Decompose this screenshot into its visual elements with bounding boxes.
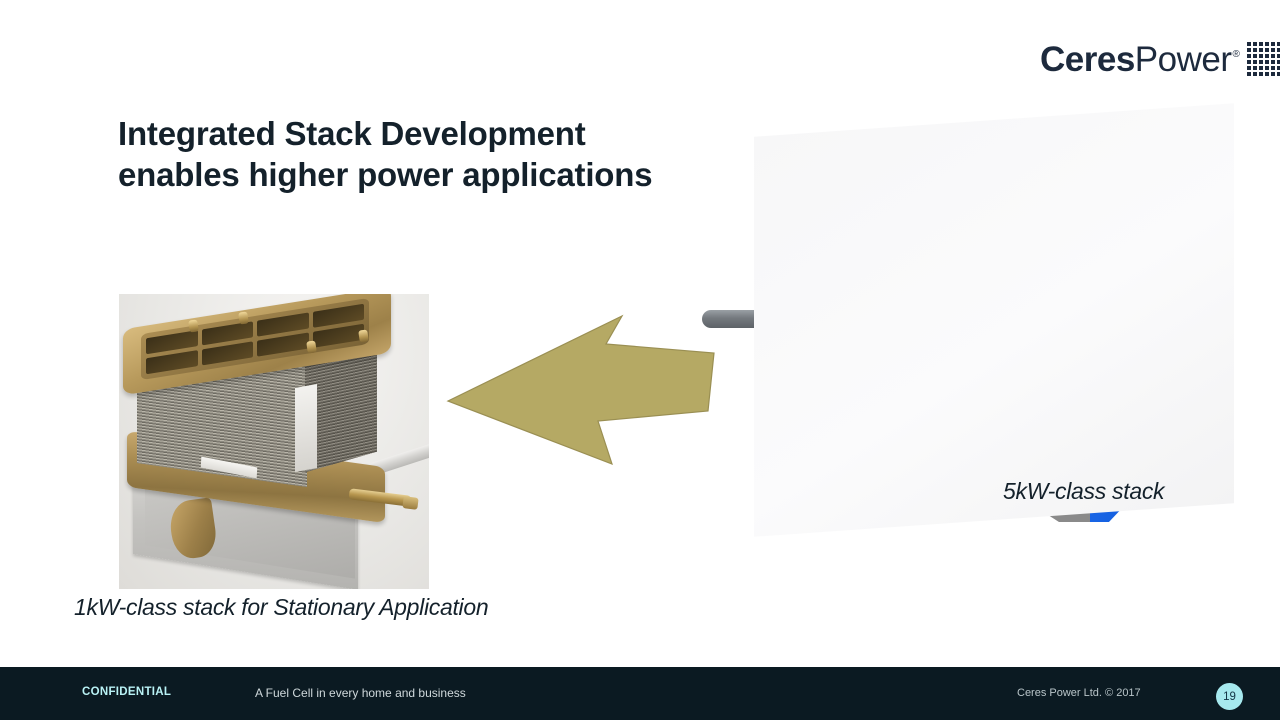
caption-1kw-stack: 1kW-class stack for Stationary Applicati… (74, 594, 488, 621)
logo-dot-grid-icon (1247, 42, 1280, 76)
slide-canvas: CeresPower® Integrated Stack Development… (0, 0, 1280, 720)
slide-title-line-1: Integrated Stack Development (118, 114, 738, 155)
footer-copyright: Ceres Power Ltd. © 2017 (1017, 687, 1141, 699)
cad-backdrop (754, 103, 1234, 537)
logo-text-power: Power (1135, 42, 1232, 77)
photo-1kw-stack (119, 294, 429, 589)
footer-confidential-label: CONFIDENTIAL (82, 686, 171, 698)
caption-5kw-stack: 5kW-class stack (1003, 478, 1164, 505)
photo-insulation-card (295, 384, 317, 472)
photo-bolt (188, 319, 199, 332)
slide-title-line-2: enables higher power applications (118, 155, 738, 196)
slide-title: Integrated Stack Development enables hig… (118, 114, 738, 195)
logo-wordmark: CeresPower® (1040, 42, 1239, 77)
logo-text-ceres: Ceres (1040, 42, 1135, 77)
arrow-shape (448, 316, 714, 464)
photo-brass-nozzle-tip (402, 496, 418, 510)
photo-bolt (358, 329, 369, 342)
photo-bolt (306, 340, 317, 353)
slide-footer: CONFIDENTIAL A Fuel Cell in every home a… (0, 667, 1280, 720)
registered-trademark-icon: ® (1233, 50, 1240, 60)
transition-arrow (446, 306, 721, 471)
cad-5kw-stack (700, 112, 1250, 522)
footer-tagline: A Fuel Cell in every home and business (255, 686, 466, 700)
ceres-power-logo: CeresPower® (1040, 36, 1280, 82)
footer-page-number-badge: 19 (1216, 683, 1243, 710)
photo-bolt (238, 311, 249, 324)
